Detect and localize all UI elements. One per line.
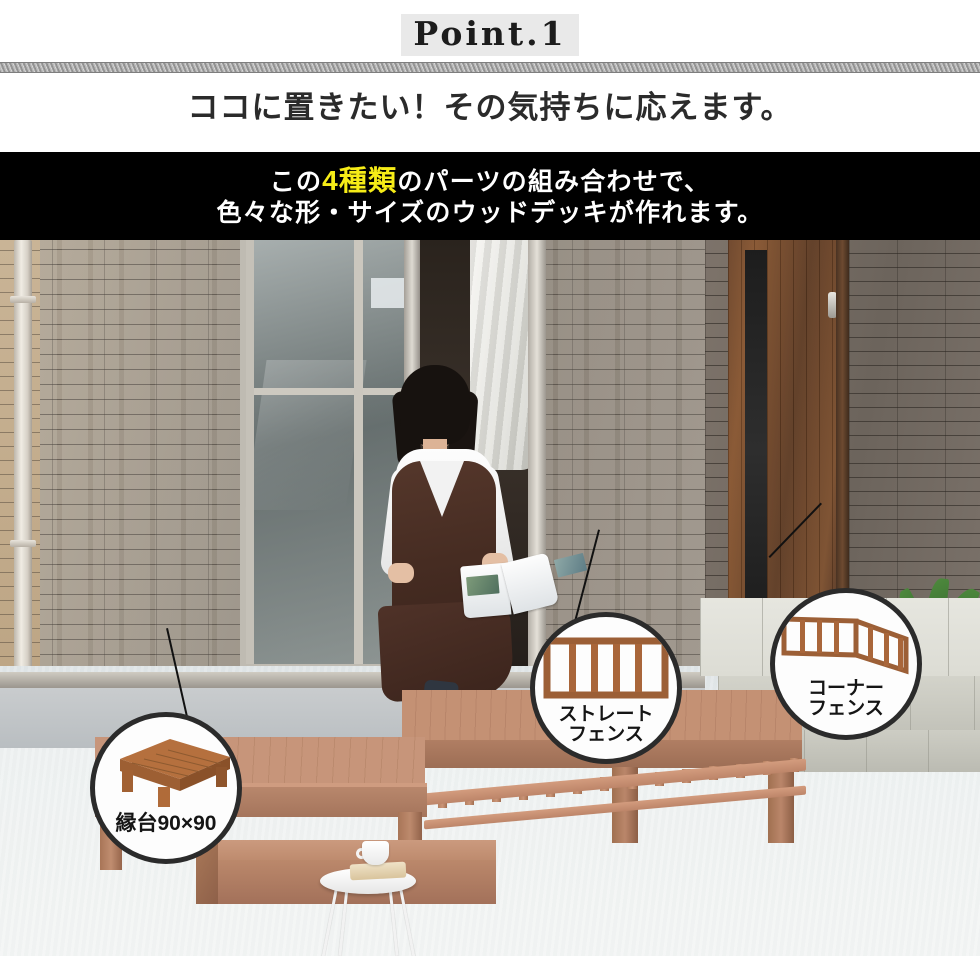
header-zone: Point.1 ココに置きたい！その気持ちに応えます。: [0, 0, 980, 152]
wood-platform-icon: [95, 733, 237, 811]
corner-fence-icon: [775, 609, 917, 675]
infographic-page: Point.1 ココに置きたい！その気持ちに応えます。 この4種類のパーツの組み…: [0, 0, 980, 980]
feature-banner: この4種類のパーツの組み合わせで、 色々な形・サイズのウッドデッキが作れます。: [0, 152, 980, 240]
product-photo: 縁台90×90 ストレート フェンス: [0, 240, 980, 956]
badge-straight-fence[interactable]: ストレート フェンス: [530, 612, 682, 764]
banner-line1-post: のパーツの組み合わせで、: [397, 168, 710, 196]
footer-spacer: [0, 956, 980, 980]
page-headline: ココに置きたい！その気持ちに応えます。: [0, 82, 980, 127]
rope-divider: [0, 62, 980, 73]
badge-corner-label: コーナー フェンス: [808, 679, 884, 719]
banner-line-1: この4種類のパーツの組み合わせで、: [270, 165, 711, 196]
banner-highlight: 4種類: [322, 165, 397, 196]
badge-corner-fence[interactable]: コーナー フェンス: [770, 588, 922, 740]
badge-engawa-label: 縁台90×90: [116, 813, 217, 835]
coffee-cup: [362, 841, 389, 865]
banner-line1-pre: この: [270, 168, 322, 196]
badge-engawa[interactable]: 縁台90×90: [90, 712, 242, 864]
badge-straight-label: ストレート フェンス: [558, 705, 653, 745]
point-label: Point.1: [0, 14, 980, 56]
banner-line-2: 色々な形・サイズのウッドデッキが作れます。: [217, 199, 764, 227]
straight-fence-icon: [535, 635, 677, 701]
point-label-text: Point.1: [401, 14, 578, 56]
side-table: [320, 854, 416, 956]
